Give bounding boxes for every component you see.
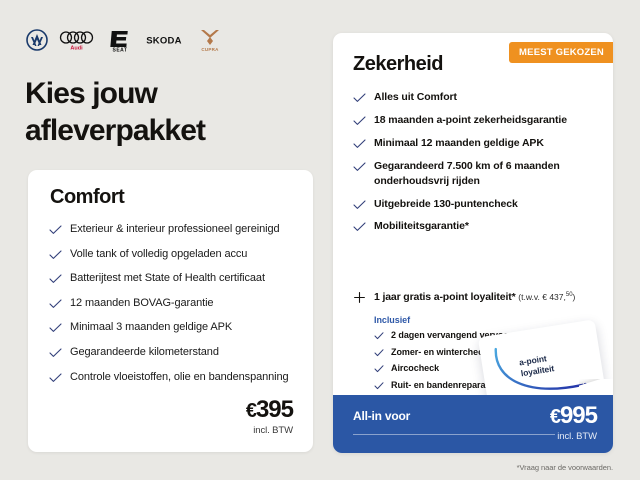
check-icon [49, 299, 62, 309]
list-item-label: Controle vloeistoffen, olie en bandenspa… [70, 371, 289, 383]
check-icon [353, 162, 366, 172]
zekerheid-package-card[interactable]: MEEST GEKOZEN Zekerheid Alles uit Comfor… [333, 33, 613, 453]
cupra-logo: CUPRA [196, 28, 224, 57]
promo-poster: Audi SEAT SKODA C [0, 0, 640, 480]
comfort-feature-list: Exterieur & interieur professioneel gere… [49, 222, 299, 394]
list-item: Ruit- en bandenreparatie [374, 380, 603, 392]
list-item-label: Zomer- en winterchecks [391, 347, 493, 357]
allin-label: All-in voor [353, 409, 410, 423]
plus-icon [354, 292, 365, 303]
list-item: Volle tank of volledig opgeladen accu [49, 247, 299, 263]
list-item: Alles uit Comfort [353, 90, 601, 105]
zekerheid-price-value: €995 [550, 404, 597, 428]
volkswagen-logo [26, 29, 48, 56]
comfort-price-value: €395 [246, 398, 293, 422]
check-icon [49, 225, 62, 235]
footer-divider [353, 434, 555, 435]
audi-logo: Audi [59, 29, 97, 56]
list-item: Batterijtest met State of Health certifi… [49, 271, 299, 287]
loyalty-title-row: 1 jaar gratis a-point loyaliteit* (t.w.v… [353, 291, 603, 303]
list-item-label: Gegarandeerde kilometerstand [70, 346, 219, 358]
loyalty-value-suffix: ) [573, 292, 576, 302]
page-title: Kies jouw afleverpakket [25, 76, 315, 149]
list-item-label: Mobiliteitsgarantie* [374, 220, 469, 232]
list-item: Gegarandeerd 7.500 km of 6 maanden onder… [353, 159, 601, 189]
check-icon [374, 332, 384, 340]
inclusief-list: 2 dagen vervangend vervoer Zomer- en win… [374, 330, 603, 392]
list-item: 2 dagen vervangend vervoer [374, 330, 603, 342]
list-item-label: Batterijtest met State of Health certifi… [70, 272, 265, 284]
list-item: Aircocheck [374, 363, 603, 375]
list-item: Zomer- en winterchecks [374, 347, 603, 359]
list-item: Gegarandeerde kilometerstand [49, 345, 299, 361]
zekerheid-price-block: €995 incl. BTW [550, 404, 597, 442]
loyalty-value-cents: 50 [566, 292, 573, 298]
price-amount: 395 [256, 396, 293, 423]
list-item: Controle vloeistoffen, olie en bandenspa… [49, 370, 299, 386]
brand-logo-row: Audi SEAT SKODA C [26, 29, 224, 55]
svg-text:CUPRA: CUPRA [201, 47, 219, 52]
zekerheid-price-note: incl. BTW [550, 431, 597, 442]
loyalty-title: 1 jaar gratis a-point loyaliteit* [374, 291, 516, 303]
currency-symbol: € [246, 400, 256, 422]
check-icon [374, 365, 384, 373]
svg-text:Audi: Audi [70, 45, 83, 51]
headline-line-2: afleverpakket [25, 113, 315, 150]
list-item-label: Minimaal 12 maanden geldige APK [374, 137, 544, 149]
check-icon [49, 348, 62, 358]
comfort-title: Comfort [50, 186, 124, 209]
left-column: Audi SEAT SKODA C [0, 0, 330, 480]
list-item-label: 18 maanden a-point zekerheidsgarantie [374, 114, 567, 126]
list-item-label: Gegarandeerd 7.500 km of 6 maanden onder… [374, 160, 560, 187]
headline-line-1: Kies jouw [25, 76, 315, 113]
list-item: Exterieur & interieur professioneel gere… [49, 222, 299, 238]
list-item-label: Uitgebreide 130-puntencheck [374, 198, 518, 210]
check-icon [49, 274, 62, 284]
list-item-label: Ruit- en bandenreparatie [391, 380, 496, 390]
check-icon [353, 93, 366, 103]
skoda-logo: SKODA [143, 33, 185, 52]
list-item-label: Volle tank of volledig opgeladen accu [70, 248, 247, 260]
check-icon [353, 139, 366, 149]
check-icon [374, 349, 384, 357]
list-item: Minimaal 3 maanden geldige APK [49, 320, 299, 336]
loyalty-value: (t.w.v. € 437,50) [518, 292, 575, 302]
list-item-label: Alles uit Comfort [374, 91, 457, 103]
footnote: *Vraag naar de voorwaarden. [517, 463, 613, 472]
list-item: 18 maanden a-point zekerheidsgarantie [353, 113, 601, 128]
list-item: Minimaal 12 maanden geldige APK [353, 136, 601, 151]
list-item-label: Exterieur & interieur professioneel gere… [70, 223, 280, 235]
currency-symbol: € [550, 406, 560, 428]
status-badge: MEEST GEKOZEN [509, 42, 613, 63]
check-icon [49, 323, 62, 333]
check-icon [353, 200, 366, 210]
comfort-price-note: incl. BTW [246, 425, 293, 436]
list-item-label: 2 dagen vervangend vervoer [391, 330, 512, 340]
inclusief-label: Inclusief [374, 315, 603, 325]
list-item: 12 maanden BOVAG-garantie [49, 296, 299, 312]
svg-text:SKODA: SKODA [146, 35, 182, 46]
check-icon [49, 373, 62, 383]
comfort-price-block: €395 incl. BTW [246, 398, 293, 436]
list-item-label: Aircocheck [391, 363, 439, 373]
price-amount: 995 [560, 402, 597, 429]
check-icon [353, 222, 366, 232]
check-icon [374, 382, 384, 390]
check-icon [49, 250, 62, 260]
check-icon [353, 116, 366, 126]
svg-text:SEAT: SEAT [113, 47, 128, 52]
comfort-package-card[interactable]: Comfort Exterieur & interieur profession… [28, 170, 313, 452]
seat-logo: SEAT [108, 28, 132, 57]
zekerheid-price-footer: All-in voor €995 incl. BTW [333, 395, 613, 453]
list-item-label: 12 maanden BOVAG-garantie [70, 297, 213, 309]
zekerheid-feature-list: Alles uit Comfort 18 maanden a-point zek… [353, 90, 601, 242]
loyalty-addon-block: 1 jaar gratis a-point loyaliteit* (t.w.v… [353, 291, 603, 397]
list-item-label: Minimaal 3 maanden geldige APK [70, 321, 232, 333]
list-item: Mobiliteitsgarantie* [353, 219, 601, 234]
loyalty-value-prefix: (t.w.v. € 437, [518, 292, 566, 302]
zekerheid-title: Zekerheid [353, 53, 443, 76]
list-item: Uitgebreide 130-puntencheck [353, 197, 601, 212]
